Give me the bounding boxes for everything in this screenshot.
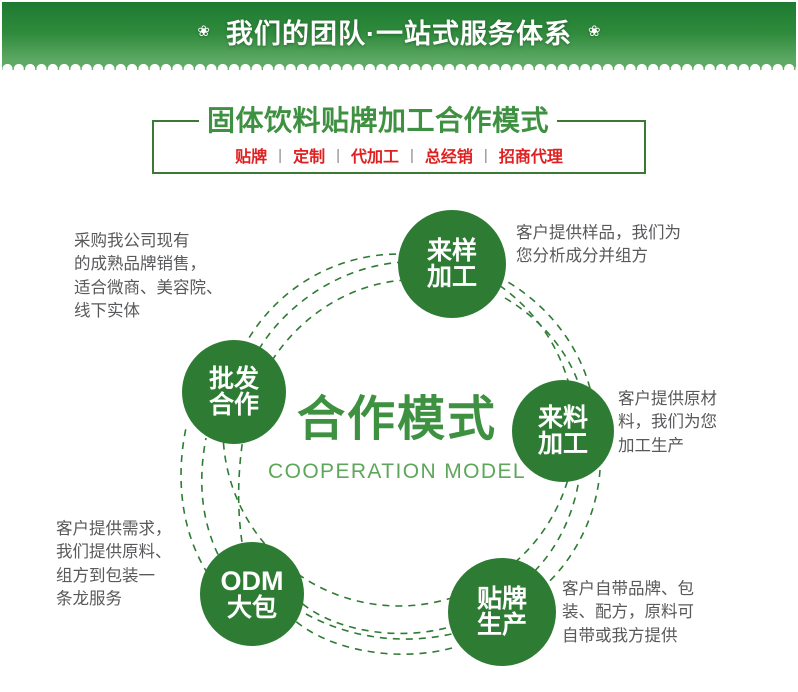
- diagram-center-title: 合作模式: [282, 396, 512, 444]
- cooperation-model-diagram: 来样 加工 批发 合作 来料 加工 ODM 大包 贴牌 生产 合作模式 COOP…: [0, 180, 798, 692]
- service-tag-3: 总经销: [425, 143, 473, 167]
- node-label-line2: 加工: [427, 264, 477, 290]
- node-wholesale-cooperation[interactable]: 批发 合作: [182, 340, 286, 444]
- flower-icon-right: ❀: [588, 24, 601, 39]
- service-tag-1: 定制: [293, 143, 325, 167]
- diagram-center-subtitle: COOPERATION MODEL: [262, 461, 532, 482]
- node-sample-processing[interactable]: 来样 加工: [398, 210, 506, 318]
- service-tag-0: 贴牌: [235, 143, 267, 167]
- description-wholesale-cooperation: 采购我公司现有 的成熟品牌销售， 适合微商、美容院、 线下实体: [74, 230, 274, 324]
- tag-separator-0: |: [278, 147, 282, 164]
- banner-title: 我们的团队·一站式服务体系: [226, 12, 572, 51]
- flower-icon-left: ❀: [197, 24, 210, 39]
- description-oem-production: 客户自带品牌、包 装、配方，原料可 自带或我方提供: [562, 578, 792, 648]
- service-tag-4: 招商代理: [499, 143, 563, 167]
- description-sample-processing: 客户提供样品，我们为 您分析成分并组方: [516, 222, 756, 269]
- scalloped-edge-decoration: [2, 60, 796, 72]
- node-label-line1: 来样: [427, 238, 477, 264]
- banner-content: ❀ 我们的团队·一站式服务体系 ❀: [0, 0, 798, 62]
- node-label-line2: 加工: [538, 431, 588, 457]
- section-title: 固体饮料贴牌加工合作模式: [199, 104, 557, 138]
- node-label-line1: 批发: [209, 366, 259, 392]
- description-odm-full-package: 客户提供需求， 我们提供原料、 组方到包装一 条龙服务: [56, 518, 246, 612]
- description-material-processing: 客户提供原材 料，我们为您 加工生产: [618, 388, 798, 458]
- service-tag-list: 贴牌 | 定制 | 代加工 | 总经销 | 招商代理: [152, 140, 646, 170]
- tag-separator-2: |: [410, 147, 414, 164]
- node-label-line2: 合作: [209, 392, 259, 418]
- service-tag-2: 代加工: [351, 143, 399, 167]
- tag-separator-3: |: [484, 147, 488, 164]
- node-label-line1: 来料: [538, 405, 588, 431]
- node-label-line1: 贴牌: [477, 586, 527, 612]
- node-label-line2: 生产: [477, 612, 527, 638]
- tag-separator-1: |: [336, 147, 340, 164]
- node-oem-production[interactable]: 贴牌 生产: [448, 558, 556, 666]
- header-banner: ❀ 我们的团队·一站式服务体系 ❀: [0, 0, 798, 72]
